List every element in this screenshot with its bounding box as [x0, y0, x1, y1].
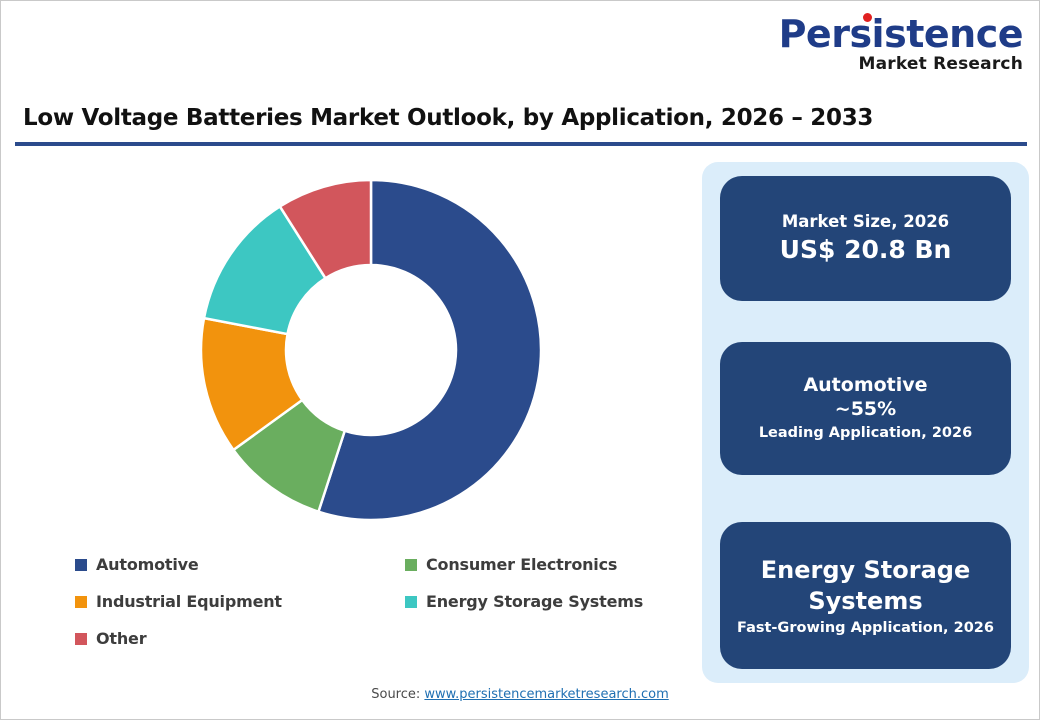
legend-label: Energy Storage Systems — [426, 592, 643, 611]
brand-name: Persistence — [779, 15, 1023, 53]
legend-label: Consumer Electronics — [426, 555, 617, 574]
donut-slice-group — [201, 180, 541, 520]
fast-growing-application-note: Fast-Growing Application, 2026 — [727, 619, 1004, 638]
legend-label: Industrial Equipment — [96, 592, 282, 611]
legend-label: Other — [96, 629, 146, 648]
leading-application-name: Automotive — [803, 374, 927, 398]
stat-card-fast-growing-application: Energy Storage Systems Fast-Growing Appl… — [720, 522, 1011, 669]
red-dot-icon — [863, 13, 872, 22]
infographic-canvas: Persistence Market Research Low Voltage … — [0, 0, 1040, 720]
brand-name-text: Persistence — [779, 12, 1023, 56]
legend-swatch-icon — [75, 596, 87, 608]
source-link[interactable]: www.persistencemarketresearch.com — [424, 687, 668, 702]
legend-item-industrial-equipment[interactable]: Industrial Equipment — [75, 592, 405, 611]
legend-item-energy-storage-systems[interactable]: Energy Storage Systems — [405, 592, 675, 611]
donut-chart — [201, 180, 541, 520]
source-prefix: Source: — [371, 687, 424, 702]
page-title: Low Voltage Batteries Market Outlook, by… — [23, 105, 873, 131]
leading-application-note: Leading Application, 2026 — [749, 424, 982, 443]
legend-swatch-icon — [75, 559, 87, 571]
legend-item-consumer-electronics[interactable]: Consumer Electronics — [405, 555, 675, 574]
donut-chart-svg — [201, 180, 541, 520]
highlights-panel: Market Size, 2026 US$ 20.8 Bn Automotive… — [702, 162, 1029, 683]
market-size-value: US$ 20.8 Bn — [780, 235, 952, 266]
leading-application-share: ~55% — [835, 398, 896, 422]
brand-tagline: Market Research — [779, 56, 1023, 73]
brand-logo: Persistence Market Research — [779, 15, 1023, 73]
fast-growing-application-name: Energy Storage Systems — [720, 555, 1011, 617]
legend-swatch-icon — [75, 633, 87, 645]
stat-card-leading-application: Automotive ~55% Leading Application, 202… — [720, 342, 1011, 475]
legend-item-automotive[interactable]: Automotive — [75, 555, 405, 574]
stat-card-market-size: Market Size, 2026 US$ 20.8 Bn — [720, 176, 1011, 301]
chart-legend: Automotive Consumer Electronics Industri… — [75, 546, 675, 657]
market-size-label: Market Size, 2026 — [782, 212, 949, 233]
legend-label: Automotive — [96, 555, 199, 574]
legend-swatch-icon — [405, 559, 417, 571]
legend-item-other[interactable]: Other — [75, 629, 405, 648]
source-line: Source: www.persistencemarketresearch.co… — [1, 687, 1039, 702]
title-divider — [15, 142, 1027, 146]
legend-swatch-icon — [405, 596, 417, 608]
